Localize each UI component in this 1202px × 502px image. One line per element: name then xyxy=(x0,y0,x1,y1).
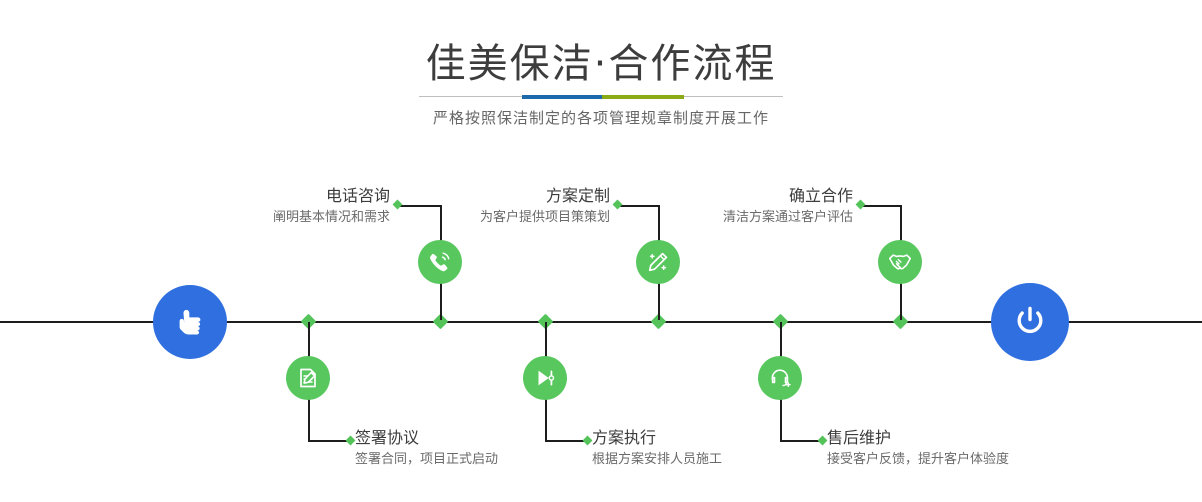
step-label-1: 电话咨询 阐明基本情况和需求 xyxy=(150,186,390,227)
play-execute-icon xyxy=(533,366,557,390)
connector-horizontal-6 xyxy=(780,440,822,442)
handshake-icon xyxy=(887,249,913,275)
step-title-6: 售后维护 xyxy=(827,428,1107,448)
step-label-6: 售后维护 接受客户反馈，提升客户体验度 xyxy=(827,428,1107,469)
power-button-icon xyxy=(1008,298,1052,347)
pointing-hand-icon xyxy=(170,300,210,345)
step-icon-5[interactable] xyxy=(878,240,922,284)
step-icon-4[interactable] xyxy=(523,356,567,400)
step-title-5: 确立合作 xyxy=(613,186,853,206)
step-subtitle-3: 为客户提供项目策策划 xyxy=(370,209,610,227)
step-label-2: 签署协议 签署合同，项目正式启动 xyxy=(355,428,615,469)
step-subtitle-4: 根据方案安排人员施工 xyxy=(592,451,852,469)
step-label-4: 方案执行 根据方案安排人员施工 xyxy=(592,428,852,469)
timeline-start-node[interactable] xyxy=(153,285,227,359)
step-subtitle-1: 阐明基本情况和需求 xyxy=(150,209,390,227)
step-icon-2[interactable] xyxy=(286,356,330,400)
step-icon-3[interactable] xyxy=(636,240,680,284)
headset-support-icon xyxy=(768,366,792,390)
step-icon-6[interactable] xyxy=(758,356,802,400)
process-timeline: 电话咨询 阐明基本情况和需求 签署协议 签署合同，项目正式启动 xyxy=(0,0,1202,502)
step-icon-1[interactable] xyxy=(418,240,462,284)
step-subtitle-2: 签署合同，项目正式启动 xyxy=(355,451,615,469)
connector-horizontal-4 xyxy=(545,440,587,442)
timeline-end-node[interactable] xyxy=(991,283,1069,361)
step-title-3: 方案定制 xyxy=(370,186,610,206)
step-title-2: 签署协议 xyxy=(355,428,615,448)
step-label-3: 方案定制 为客户提供项目策策划 xyxy=(370,186,610,227)
label-tip-dot-2 xyxy=(346,436,356,446)
connector-horizontal-5 xyxy=(860,205,901,207)
cooperation-process-infographic: 佳美保洁·合作流程 严格按照保洁制定的各项管理规章制度开展工作 xyxy=(0,0,1202,502)
step-title-1: 电话咨询 xyxy=(150,186,390,206)
label-tip-dot-5 xyxy=(856,200,866,210)
step-title-4: 方案执行 xyxy=(592,428,852,448)
phone-call-icon xyxy=(427,249,453,275)
connector-horizontal-2 xyxy=(308,440,350,442)
step-label-5: 确立合作 清洁方案通过客户评估 xyxy=(613,186,853,227)
document-edit-icon xyxy=(296,366,320,390)
step-subtitle-5: 清洁方案通过客户评估 xyxy=(613,209,853,227)
pencil-design-icon xyxy=(646,250,670,274)
step-subtitle-6: 接受客户反馈，提升客户体验度 xyxy=(827,451,1107,469)
